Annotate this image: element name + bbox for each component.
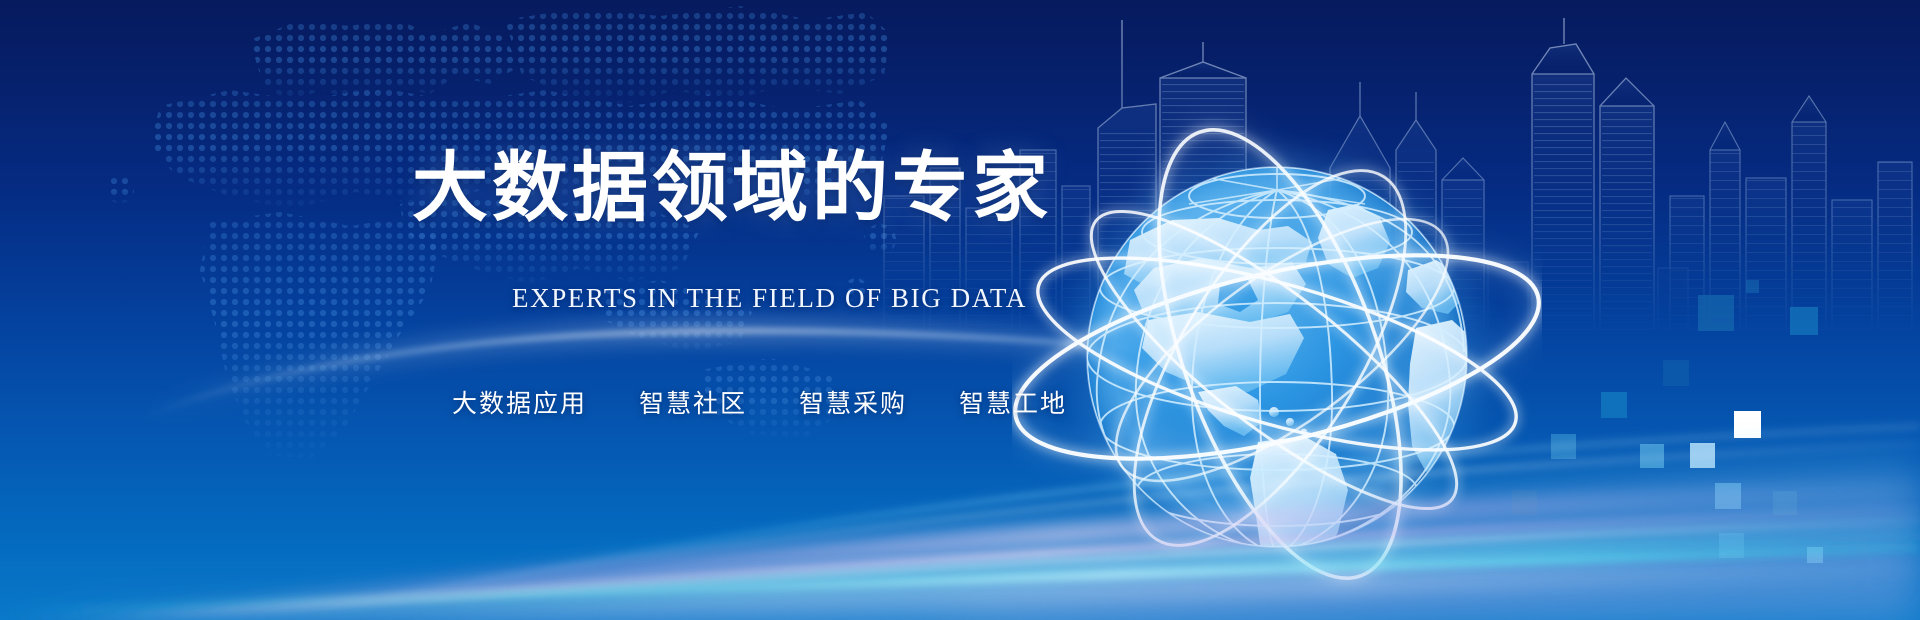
nav-item-big-data-application[interactable]: 大数据应用	[452, 384, 587, 420]
mosaic-square	[1790, 307, 1818, 335]
mosaic-square	[1698, 295, 1734, 331]
mosaic-square	[1715, 483, 1741, 509]
mosaic-square	[1734, 411, 1761, 438]
big-data-banner: 大数据领域的专家 EXPERTS IN THE FIELD OF BIG DAT…	[0, 0, 1920, 620]
banner-nav: 大数据应用 智慧社区 智慧采购 智慧工地	[452, 384, 1067, 420]
mosaic-square	[1807, 547, 1823, 563]
page-title: 大数据领域的专家	[412, 150, 1052, 226]
nav-item-smart-procurement[interactable]: 智慧采购	[799, 384, 907, 420]
mosaic-square	[1690, 443, 1715, 468]
mosaic-square	[1719, 533, 1744, 558]
mosaic-square	[1773, 491, 1797, 515]
page-subtitle: EXPERTS IN THE FIELD OF BIG DATA	[512, 283, 1027, 314]
mosaic-square	[1601, 392, 1627, 418]
mosaic-square	[1640, 444, 1664, 468]
mosaic-square	[1512, 490, 1537, 515]
mosaic-square	[1663, 360, 1689, 386]
mosaic-square	[1551, 434, 1576, 459]
banner-text-block: 大数据领域的专家 EXPERTS IN THE FIELD OF BIG DAT…	[0, 0, 1100, 620]
nav-item-smart-community[interactable]: 智慧社区	[639, 384, 747, 420]
nav-item-smart-construction[interactable]: 智慧工地	[959, 384, 1067, 420]
mosaic-square	[1746, 280, 1759, 293]
